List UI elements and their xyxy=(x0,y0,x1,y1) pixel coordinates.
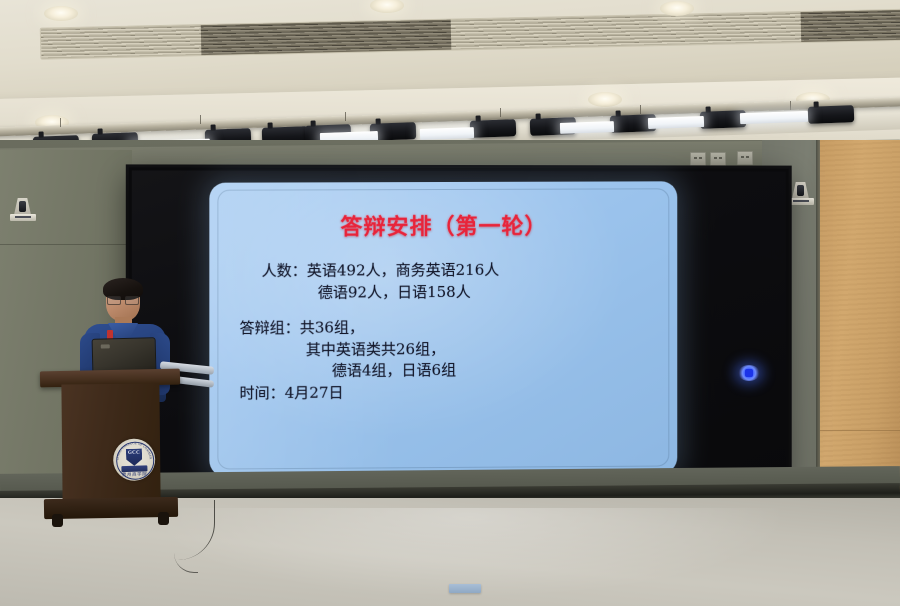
presenter-glasses xyxy=(107,296,139,303)
ceiling-panel-light xyxy=(560,121,614,134)
lectern-caster xyxy=(158,512,169,525)
slide-body: 人数：英语492人，商务英语216人 德语92人，日语158人 答辩组：共36组… xyxy=(240,259,656,405)
slide-line: 时间：4月27日 xyxy=(240,381,656,405)
lectern-caster xyxy=(52,514,63,527)
ceiling-downlight xyxy=(370,0,404,13)
light-hanger xyxy=(345,112,346,121)
lecture-hall-scene: 答辩安排（第一轮） 人数：英语492人，商务英语216人 德语92人，日语158… xyxy=(0,0,900,606)
stage-light-fixture xyxy=(808,105,855,124)
wall-outlet[interactable] xyxy=(710,152,726,166)
college-emblem: GUIZHOU COLLEGE OF COMMERCE GCC 贵州商学院 xyxy=(113,438,156,481)
laptop-logo xyxy=(101,344,110,348)
camera-strip xyxy=(15,216,31,218)
ceiling-panel-light xyxy=(648,116,704,129)
stage-light-fixture xyxy=(470,119,517,138)
slide-line: 德语92人，日语158人 xyxy=(240,281,656,304)
ceiling-downlight xyxy=(660,1,694,16)
slide-line: 其中英语类共26组， xyxy=(240,338,656,362)
wood-wall-panel xyxy=(820,140,900,522)
slide-title: 答辩安排（第一轮） xyxy=(209,208,677,242)
presentation-slide[interactable]: 答辩安排（第一轮） 人数：英语492人，商务英语216人 德语92人，日语158… xyxy=(209,181,677,476)
camera-lens xyxy=(19,201,26,212)
wall-plate xyxy=(737,151,753,165)
wall-seam xyxy=(0,244,132,245)
vent-section xyxy=(801,6,900,42)
vent-section xyxy=(201,20,452,55)
light-hanger xyxy=(200,115,201,124)
wood-panel-seam xyxy=(820,430,900,431)
emblem-chinese-name: 贵州商学院 xyxy=(114,471,156,478)
power-led-icon xyxy=(738,365,760,381)
lectern-body: GUIZHOU COLLEGE OF COMMERCE GCC 贵州商学院 xyxy=(61,383,160,502)
light-hanger xyxy=(500,108,501,117)
light-hanger xyxy=(640,105,641,114)
slide-line: 德语4组，日语6组 xyxy=(240,359,656,383)
hvac-vent-grille xyxy=(40,8,900,59)
floor-outlet-icon xyxy=(449,584,481,593)
camera-lens xyxy=(797,185,804,196)
light-hanger xyxy=(60,118,61,127)
ceiling-downlight xyxy=(588,92,622,107)
ceiling-downlight xyxy=(44,6,78,21)
slide-line: 人数：英语492人，商务英语216人 xyxy=(240,259,656,282)
wall-outlet[interactable] xyxy=(690,152,706,166)
security-camera-icon xyxy=(10,198,36,224)
lectern: GUIZHOU COLLEGE OF COMMERCE GCC 贵州商学院 xyxy=(40,370,180,530)
slide-line: 答辩组：共36组， xyxy=(240,316,656,340)
ceiling-panel-light xyxy=(420,127,474,140)
security-camera-icon xyxy=(788,182,814,208)
camera-strip xyxy=(793,200,809,202)
light-hanger xyxy=(790,101,791,110)
